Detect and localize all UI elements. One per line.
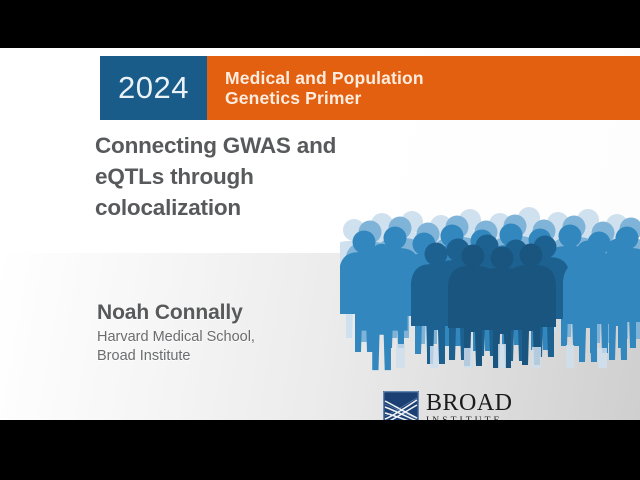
letterbox-top [0,0,640,48]
broad-institute-crosshatch-mark-icon [383,391,419,420]
slide-headline: Connecting GWAS and eQTLs through coloca… [95,130,405,223]
headline-line-1: Connecting GWAS and [95,130,405,161]
broad-institute-logo: BROAD INSTITUTE [383,391,513,420]
video-player-viewport: 2024 Medical and Population Genetics Pri… [0,0,640,480]
slide-banner: 2024 Medical and Population Genetics Pri… [100,56,640,120]
banner-year-text: 2024 [118,70,189,106]
broad-institute-wordmark: BROAD INSTITUTE [426,392,513,420]
presenter-name: Noah Connally [97,301,255,325]
presentation-slide: 2024 Medical and Population Genetics Pri… [0,48,640,420]
presenter-affiliation-line-1: Harvard Medical School, [97,328,255,347]
letterbox-bottom [0,420,640,480]
presenter-affiliation-line-2: Broad Institute [97,347,255,366]
headline-line-3: colocalization [95,192,405,223]
banner-series-line-1: Medical and Population [225,68,640,88]
headline-line-2: eQTLs through [95,161,405,192]
banner-series-title: Medical and Population Genetics Primer [207,56,640,120]
presenter-block: Noah Connally Harvard Medical School, Br… [97,301,255,366]
banner-series-line-2: Genetics Primer [225,88,640,108]
broad-wordmark-text: BROAD [426,392,513,415]
banner-year-badge: 2024 [100,56,207,120]
